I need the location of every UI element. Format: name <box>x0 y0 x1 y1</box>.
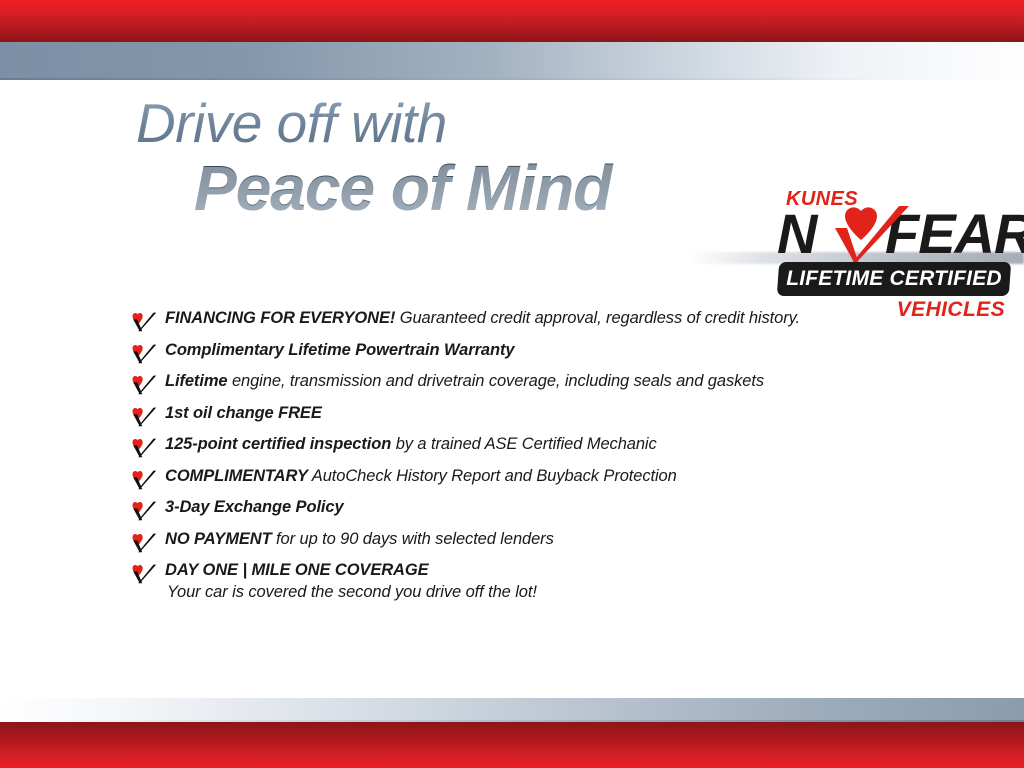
heart-checkmark-bullet-icon <box>131 311 157 332</box>
heart-checkmark-bullet-icon <box>131 500 157 521</box>
benefit-strong: COMPLIMENTARY <box>165 467 308 485</box>
benefit-strong: Lifetime <box>165 372 227 390</box>
benefit-item: COMPLIMENTARY AutoCheck History Report a… <box>131 466 951 498</box>
logo-letter-n: N <box>777 206 816 262</box>
header: Drive off with Peace of Mind KUNES N FEA… <box>0 80 1024 262</box>
benefit-strong: 125-point certified inspection <box>165 435 391 453</box>
heart-checkmark-bullet-icon <box>131 437 157 458</box>
benefit-item: 3-Day Exchange Policy <box>131 497 951 529</box>
benefit-strong: NO PAYMENT <box>165 530 272 548</box>
benefit-subtext: Your car is covered the second you drive… <box>165 582 951 603</box>
heart-checkmark-bullet-icon <box>131 374 157 395</box>
logo-certified-bar: LIFETIME CERTIFIED <box>777 262 1011 296</box>
benefit-item: NO PAYMENT for up to 90 days with select… <box>131 529 951 561</box>
benefit-text: 1st oil change FREE <box>165 403 951 424</box>
heart-checkmark-bullet-icon <box>131 469 157 490</box>
benefit-text: 125-point certified inspection by a trai… <box>165 434 951 455</box>
bottom-gray-band <box>0 698 1024 722</box>
heart-checkmark-bullet-icon <box>131 563 157 584</box>
benefit-item: FINANCING FOR EVERYONE! Guaranteed credi… <box>131 308 951 340</box>
benefit-strong: 3-Day Exchange Policy <box>165 498 344 516</box>
benefit-strong: 1st oil change FREE <box>165 404 322 422</box>
benefit-normal: for up to 90 days with selected lenders <box>272 530 554 548</box>
benefit-normal: AutoCheck History Report and Buyback Pro… <box>308 467 677 485</box>
benefit-item: 125-point certified inspection by a trai… <box>131 434 951 466</box>
headline-line-1: Drive off with <box>136 94 756 152</box>
heart-checkmark-bullet-icon <box>131 406 157 427</box>
benefit-text: DAY ONE | MILE ONE COVERAGE <box>165 560 951 581</box>
bottom-red-band <box>0 722 1024 768</box>
kunes-no-fear-logo: KUNES N FEAR LIFETIME CERTIFIED VEHICLES <box>775 188 1011 322</box>
benefit-normal: Guaranteed credit approval, regardless o… <box>395 309 800 327</box>
benefit-item: Complimentary Lifetime Powertrain Warran… <box>131 340 951 372</box>
benefit-text: Complimentary Lifetime Powertrain Warran… <box>165 340 951 361</box>
benefit-normal: engine, transmission and drivetrain cove… <box>227 372 764 390</box>
heart-checkmark-bullet-icon <box>131 343 157 364</box>
benefit-item: DAY ONE | MILE ONE COVERAGE Your car is … <box>131 560 951 613</box>
benefit-text: COMPLIMENTARY AutoCheck History Report a… <box>165 466 951 487</box>
benefit-text: NO PAYMENT for up to 90 days with select… <box>165 529 951 550</box>
benefit-item: 1st oil change FREE <box>131 403 951 435</box>
benefit-strong: Complimentary Lifetime Powertrain Warran… <box>165 341 514 359</box>
logo-certified-text: LIFETIME CERTIFIED <box>778 262 1010 296</box>
benefit-strong: FINANCING FOR EVERYONE! <box>165 309 395 327</box>
headline-line-2: Peace of Mind <box>194 154 756 222</box>
benefits-list: FINANCING FOR EVERYONE! Guaranteed credi… <box>131 308 951 613</box>
top-red-band <box>0 0 1024 42</box>
benefit-text: 3-Day Exchange Policy <box>165 497 951 518</box>
benefit-strong: DAY ONE | MILE ONE COVERAGE <box>165 561 429 579</box>
benefit-item: Lifetime engine, transmission and drivet… <box>131 371 951 403</box>
heart-checkmark-bullet-icon <box>131 532 157 553</box>
benefit-text: Lifetime engine, transmission and drivet… <box>165 371 951 392</box>
benefit-normal: by a trained ASE Certified Mechanic <box>391 435 656 453</box>
promotional-poster: Drive off with Peace of Mind KUNES N FEA… <box>0 0 1024 768</box>
logo-nofear-wordmark: N FEAR <box>775 204 1011 266</box>
top-gray-band <box>0 42 1024 80</box>
headline-block: Drive off with Peace of Mind <box>136 94 756 222</box>
benefit-text: FINANCING FOR EVERYONE! Guaranteed credi… <box>165 308 951 329</box>
